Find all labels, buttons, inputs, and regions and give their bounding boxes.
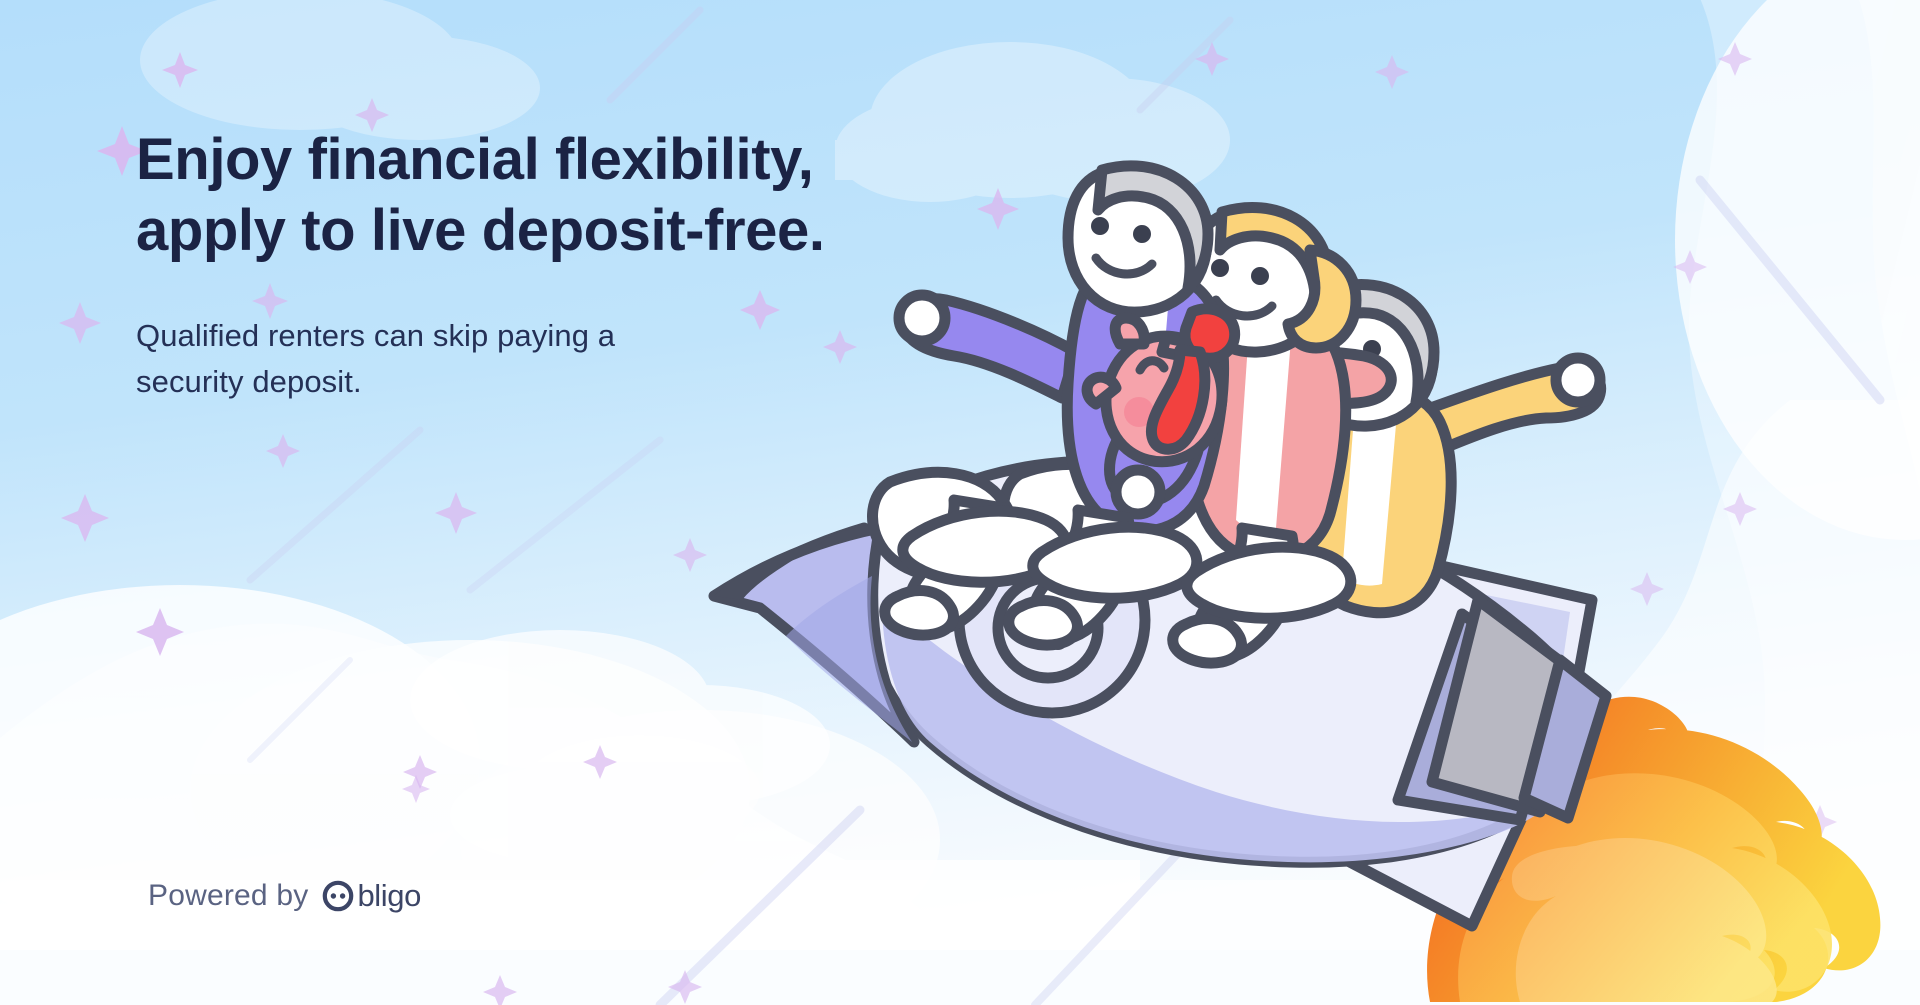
powered-by-lockup: Powered by bligo xyxy=(148,878,421,914)
shoe-3 xyxy=(1173,619,1242,663)
obligo-logo: bligo xyxy=(321,878,421,914)
powered-by-label: Powered by xyxy=(148,879,308,913)
rider-purple-hand-down xyxy=(1116,470,1160,514)
obligo-o-icon xyxy=(321,879,355,913)
page-subtitle: Qualified renters can skip paying a secu… xyxy=(136,313,1016,405)
shoe-1 xyxy=(885,591,954,635)
rider-yellow-hand xyxy=(1556,358,1600,402)
page-title: Enjoy financial flexibility, apply to li… xyxy=(136,124,1016,267)
piggy-ear xyxy=(1115,318,1144,344)
rider-pink-eye-1 xyxy=(1211,259,1229,277)
rider-purple-eye-1 xyxy=(1091,217,1109,235)
promo-banner: .ol{stroke:#4a4f5f;stroke-width:11;strok… xyxy=(0,0,1920,1005)
hip-3 xyxy=(1187,547,1351,618)
obligo-wordmark: bligo xyxy=(357,878,421,914)
rider-pink-eye-2 xyxy=(1251,267,1269,285)
rider-purple-eye-2 xyxy=(1133,225,1151,243)
shoe-2 xyxy=(1009,601,1078,645)
hip-2 xyxy=(1033,527,1197,598)
copy-block: Enjoy financial flexibility, apply to li… xyxy=(136,124,1016,404)
